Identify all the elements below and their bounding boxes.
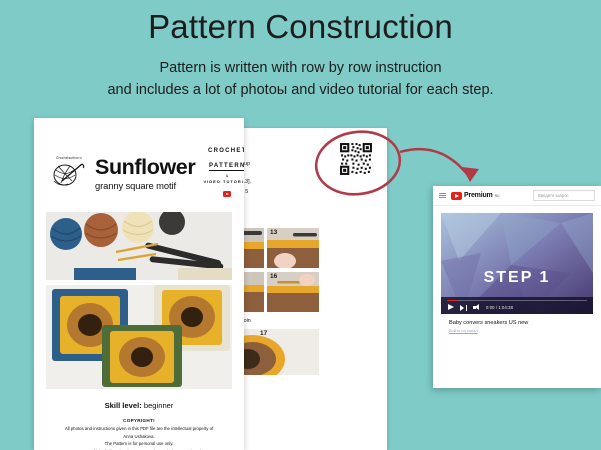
badge-ampersand: &	[200, 173, 244, 178]
youtube-window[interactable]: PremiumRU Введите запрос STEP 1	[433, 186, 601, 388]
page-subtitle: Pattern is written with row by row instr…	[0, 58, 601, 102]
qr-code-icon[interactable]	[339, 142, 373, 176]
badge-line-2: PATTERN	[209, 163, 244, 171]
time-display: 0:00 / 1:04:38	[486, 305, 513, 310]
play-icon[interactable]	[447, 304, 454, 311]
copyright-line: All photos and instructions given in thi…	[44, 425, 234, 433]
yarn-photo	[46, 212, 232, 280]
youtube-play-icon	[451, 192, 462, 200]
annotation-arrow-line	[400, 149, 470, 178]
square-green	[102, 325, 182, 387]
pattern-cover-page[interactable]: Crochetsubtorro Sunflower granny square …	[34, 118, 244, 450]
next-track-icon[interactable]	[460, 304, 467, 311]
hamburger-menu-icon[interactable]	[439, 193, 446, 199]
search-placeholder: Введите запрос	[538, 193, 569, 198]
brand-logo: Crochetsubtorro	[48, 156, 90, 192]
brand-text: Sunflower granny square motif	[95, 157, 195, 192]
player-overlay-text: STEP 1	[441, 269, 593, 287]
granny-squares-photo	[46, 285, 232, 389]
youtube-logo[interactable]: PremiumRU	[451, 192, 499, 200]
progress-bar[interactable]	[447, 300, 587, 302]
skill-level-value: beginner	[144, 401, 174, 410]
video-player[interactable]: STEP 1 0:00 / 1:04:38	[441, 213, 593, 314]
figure-image: 16	[267, 272, 319, 312]
player-stage: STEP 1 0:00 / 1:04:38 Baby convers sneak…	[433, 206, 601, 333]
figure-image: 13	[267, 228, 319, 268]
subtitle-line-2: and includes a lot of photoы and video t…	[0, 80, 601, 102]
badge-line-3: VIDEO TUTORIAL	[200, 179, 244, 184]
brand-title: Sunflower	[95, 157, 195, 179]
youtube-logo-text: Premium	[464, 192, 493, 199]
copyright-heading: COPYRIGHT!	[34, 418, 244, 423]
video-subtitle-link[interactable]: Войти на канал	[449, 328, 593, 333]
pattern-badge: CROCHET PATTERN & VIDEO TUTORIAL	[200, 146, 244, 202]
granny-squares-photo-icon	[46, 285, 232, 389]
subtitle-line-1: Pattern is written with row by row instr…	[0, 58, 601, 80]
figure-number: 13	[270, 229, 277, 236]
player-controls[interactable]: 0:00 / 1:04:38	[441, 297, 593, 314]
skill-level: Skill level: beginner	[34, 401, 244, 410]
copyright-line: Anna Ushakova.	[44, 433, 234, 441]
volume-icon[interactable]	[473, 304, 480, 311]
youtube-logo-region: RU	[495, 194, 500, 198]
logo-caption: Crochetsubtorro	[48, 156, 90, 160]
search-input[interactable]: Введите запрос	[533, 190, 595, 201]
cover-header: Crochetsubtorro Sunflower granny square …	[34, 118, 244, 202]
video-title: Baby convers sneakers US new	[449, 320, 593, 326]
page-header: Pattern Construction Pattern is written …	[0, 0, 601, 102]
page-title: Pattern Construction	[0, 8, 601, 46]
figure-number: 17	[260, 330, 267, 337]
yarn-ball-icon	[52, 161, 86, 187]
skill-level-label: Skill level:	[105, 401, 142, 410]
brand-subtitle: granny square motif	[95, 180, 195, 191]
youtube-header: PremiumRU Введите запрос	[433, 186, 601, 206]
copyright-text: All photos and instructions given in thi…	[34, 425, 244, 450]
annotation-arrow-head	[462, 167, 479, 182]
youtube-icon	[223, 191, 231, 197]
copyright-line: The Pattern is for personal use only.	[44, 440, 234, 448]
figure-number: 16	[270, 273, 277, 280]
yarn-photo-icon	[46, 212, 232, 280]
